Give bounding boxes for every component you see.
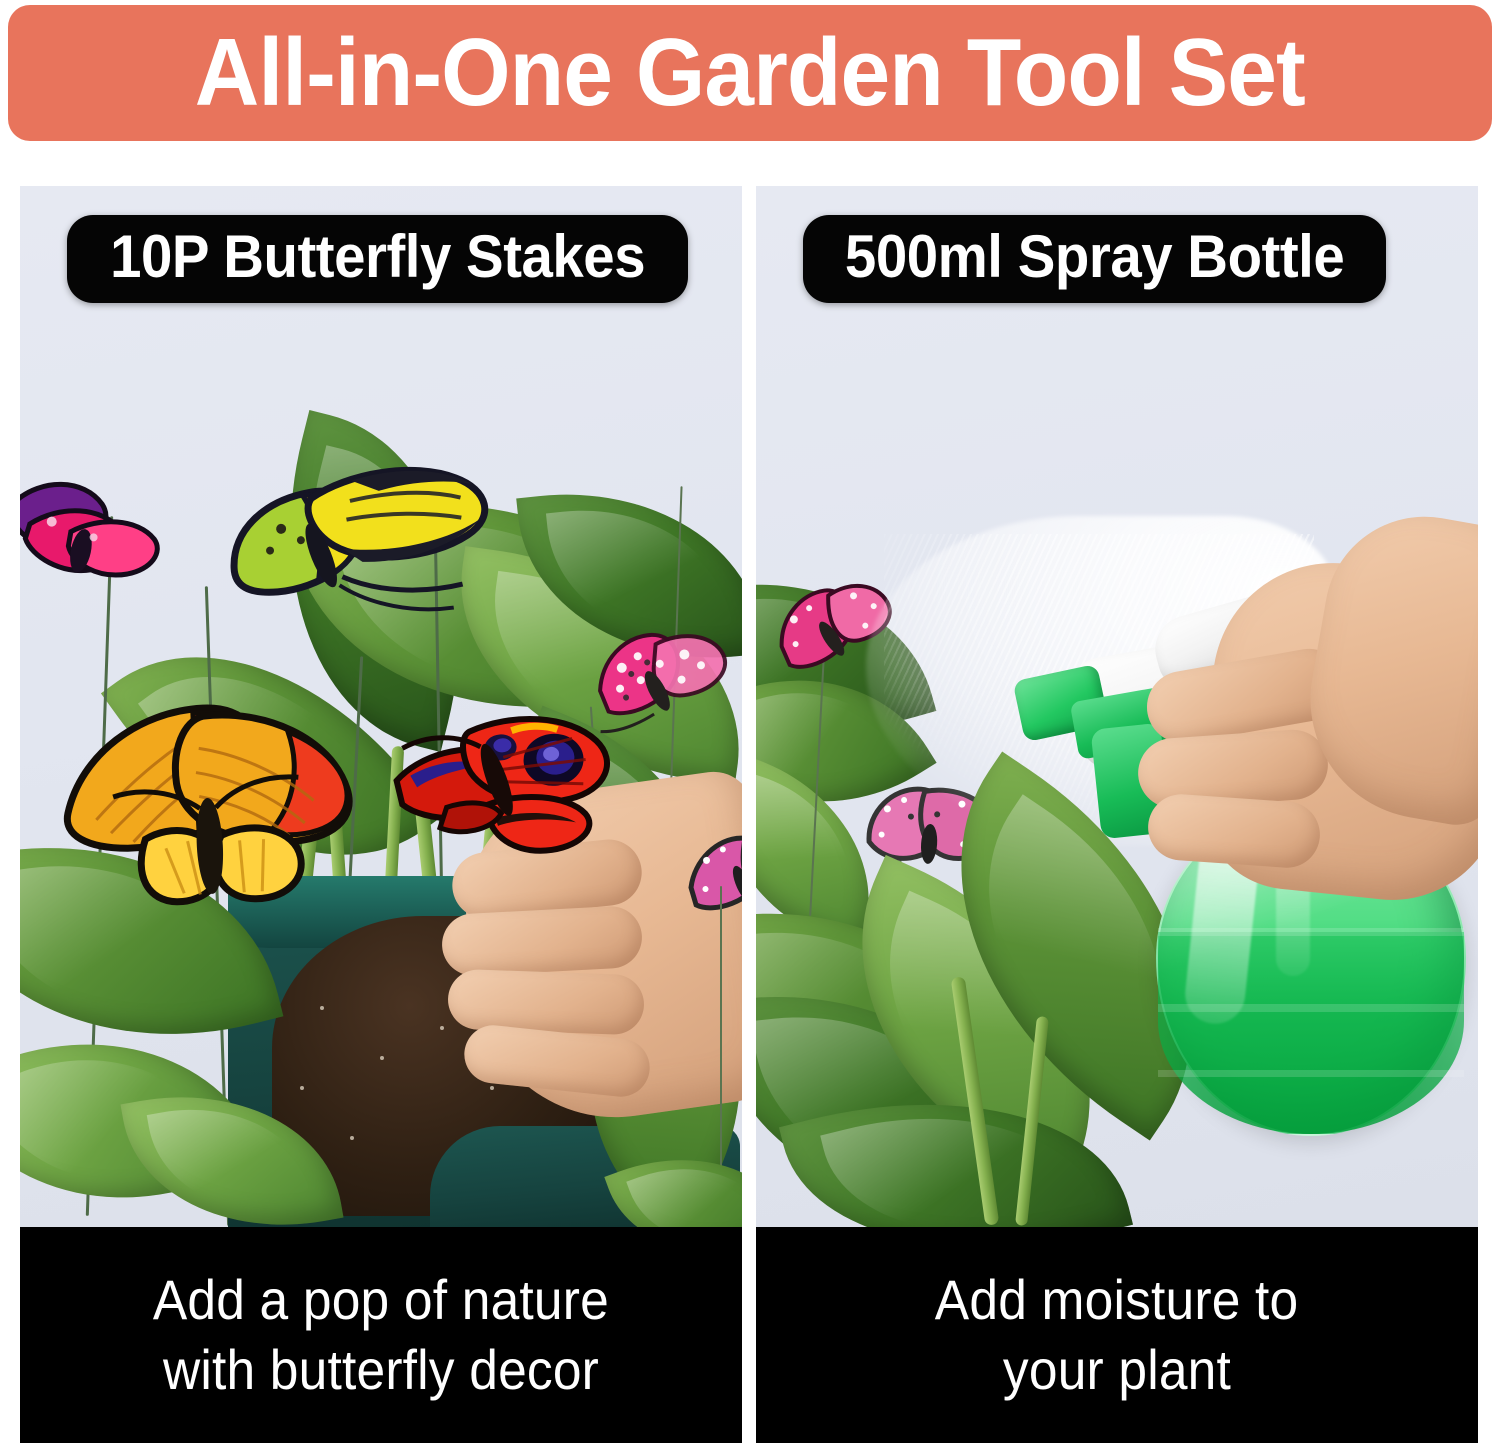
panel-butterfly-stakes: 10P Butterfly Stakes Add a pop of nature…	[20, 186, 742, 1443]
label-text: 500ml Spray Bottle	[845, 225, 1344, 289]
scene-butterfly-stakes	[20, 186, 742, 1227]
soil-speck	[350, 1136, 354, 1140]
caption-line-1: Add moisture to	[935, 1267, 1299, 1333]
caption-line-1: Add a pop of nature	[153, 1267, 609, 1333]
finger	[1146, 792, 1322, 870]
finger	[441, 905, 644, 977]
soil-speck	[300, 1086, 304, 1090]
butterfly-magenta-purple	[20, 461, 199, 620]
soil-speck	[440, 1026, 444, 1030]
scene-spray-bottle	[756, 186, 1478, 1227]
bottle-ridge	[1158, 1004, 1464, 1012]
caption-butterfly-stakes: Add a pop of nature with butterfly decor	[20, 1227, 742, 1443]
header-banner: All-in-One Garden Tool Set	[8, 5, 1492, 141]
finger	[447, 969, 645, 1036]
butterfly-orange-yellow	[42, 678, 375, 944]
soil-speck	[490, 1086, 494, 1090]
caption-line-2: your plant	[1003, 1337, 1231, 1403]
soil-speck	[380, 1056, 384, 1060]
panel-container: 10P Butterfly Stakes Add a pop of nature…	[0, 186, 1500, 1443]
label-spray-bottle: 500ml Spray Bottle	[803, 215, 1386, 303]
caption-line-2: with butterfly decor	[163, 1337, 599, 1403]
bottle-ridge	[1158, 928, 1464, 936]
panel-spray-bottle: 500ml Spray Bottle Add moisture to your …	[756, 186, 1478, 1443]
soil-speck	[320, 1006, 324, 1010]
bottle-ridge	[1158, 1070, 1464, 1077]
page-title: All-in-One Garden Tool Set	[195, 18, 1305, 128]
caption-spray-bottle: Add moisture to your plant	[756, 1227, 1478, 1443]
photo-butterfly-stakes: 10P Butterfly Stakes	[20, 186, 742, 1227]
label-butterfly-stakes: 10P Butterfly Stakes	[67, 215, 688, 303]
photo-spray-bottle: 500ml Spray Bottle	[756, 186, 1478, 1227]
label-text: 10P Butterfly Stakes	[110, 225, 645, 289]
